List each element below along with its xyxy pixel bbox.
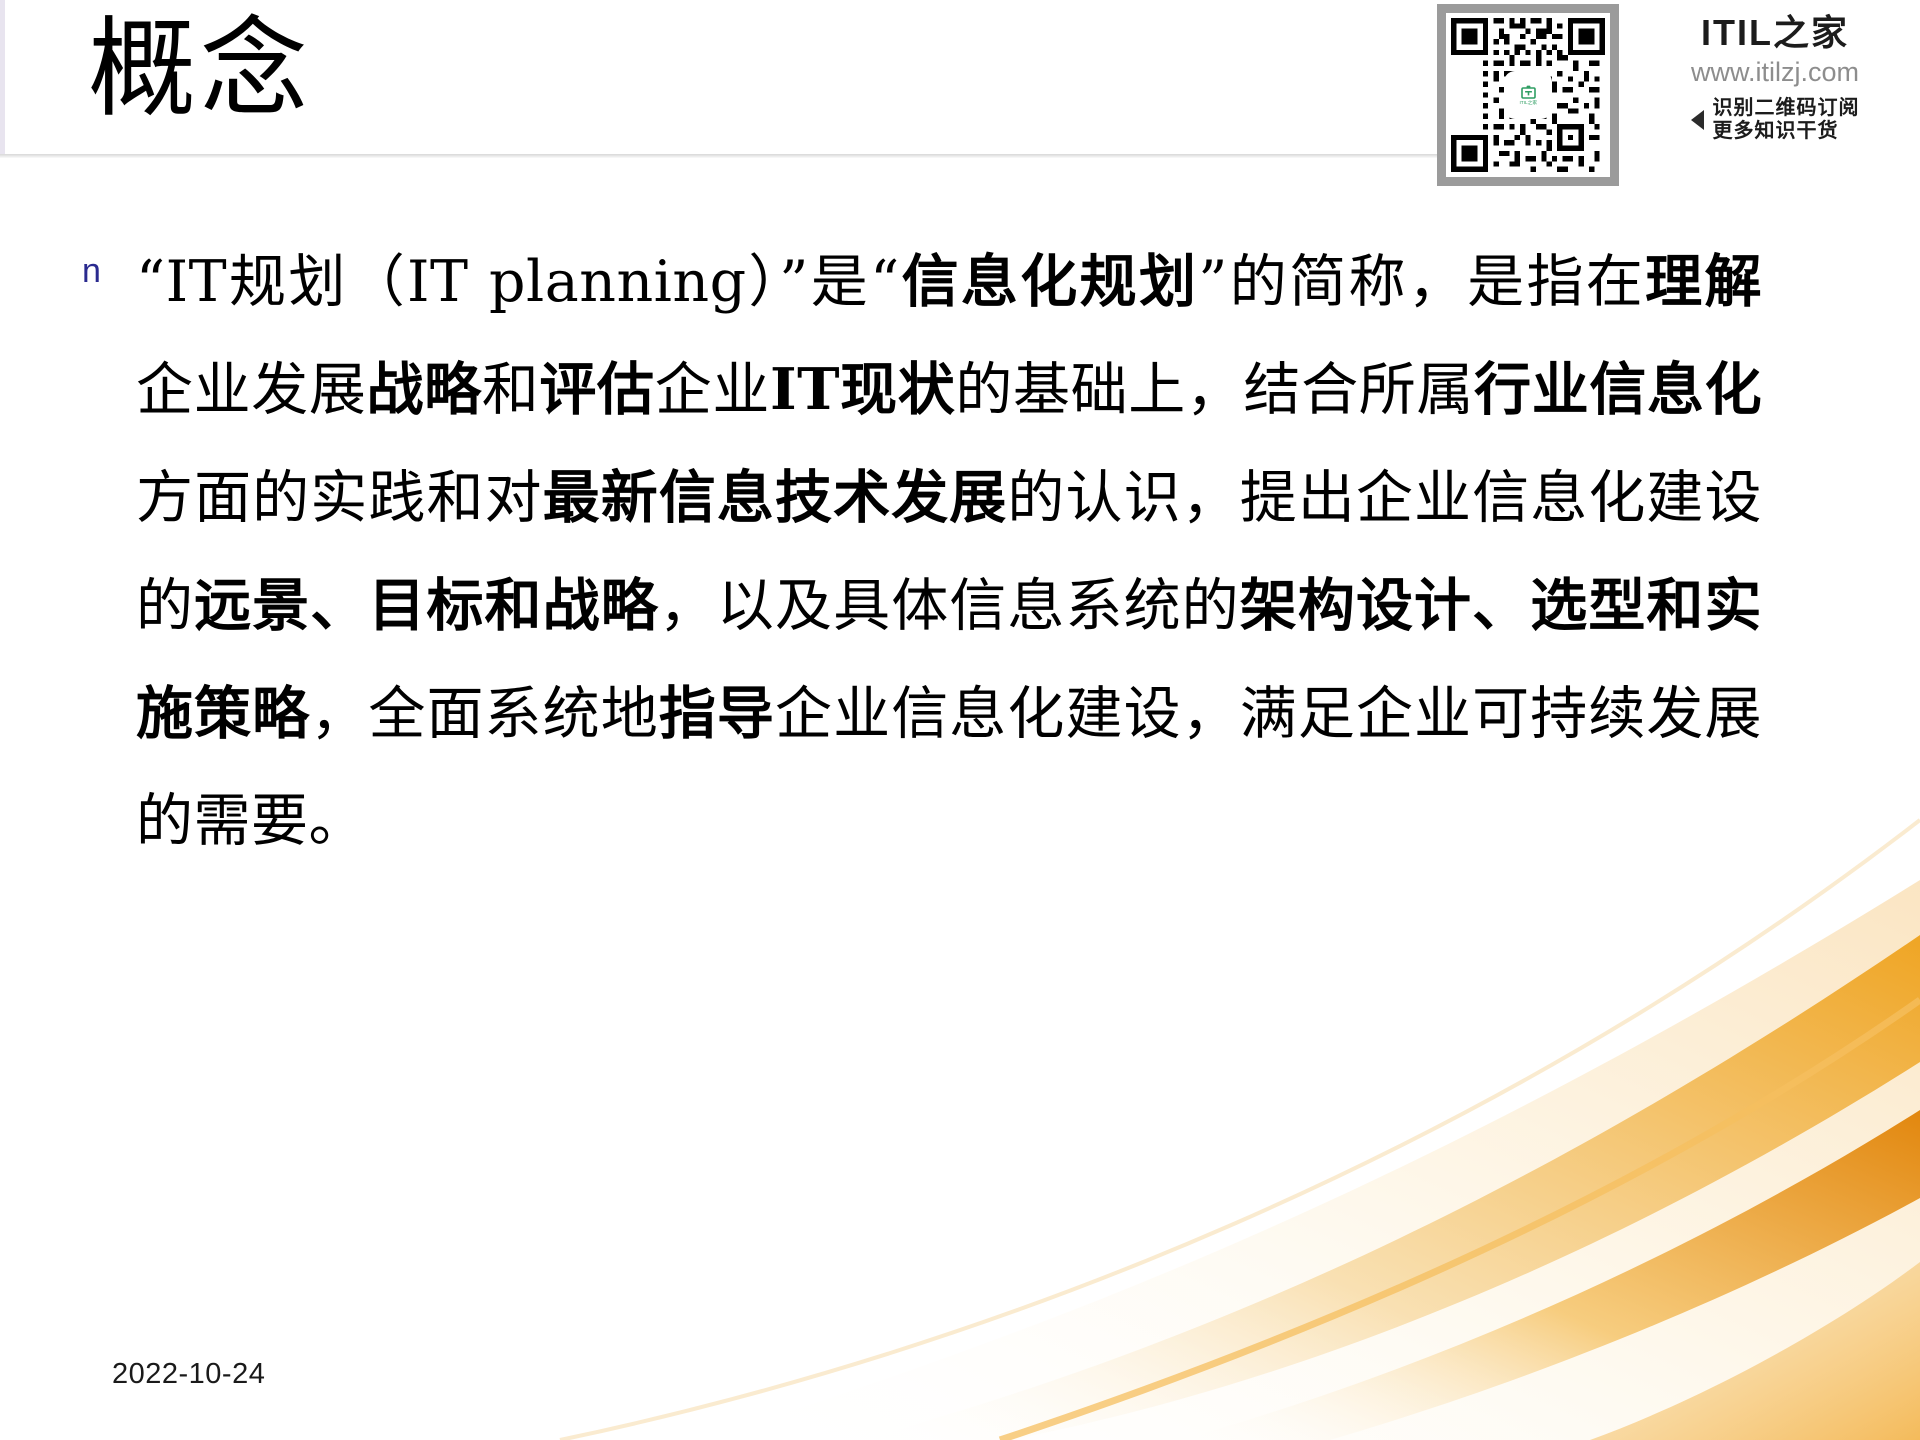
- brand-cta-line-2: 更多知识干货: [1713, 120, 1839, 142]
- body-block: n “IT规划（IT planning）”是“信息化规划”的简称，是指在理解企业…: [82, 228, 1762, 875]
- brand-name: ITIL之家: [1701, 14, 1849, 53]
- title-divider: [0, 154, 1442, 158]
- qr-code-frame[interactable]: ITIL之家: [1437, 4, 1619, 186]
- swoosh-faint-sweep: [560, 820, 1920, 1440]
- brand-cta-line-1: 识别二维码订阅: [1713, 97, 1860, 119]
- body-segment-10: 的基础上，结合所属: [955, 357, 1474, 423]
- title-block: 概念: [0, 0, 1450, 158]
- body-segment-9: IT现状: [770, 356, 955, 423]
- body-segment-1: 信息化规划: [900, 248, 1199, 315]
- swoosh-highlight: [1000, 1000, 1920, 1440]
- brand-cta-text: 识别二维码订阅 更多知识干货: [1713, 97, 1860, 144]
- body-segment-6: 和: [482, 357, 540, 423]
- qr-center-logo: ITIL之家: [1506, 73, 1550, 117]
- body-segment-2: ”的简称，是指在: [1198, 249, 1645, 315]
- left-triangle-icon: [1691, 110, 1704, 130]
- brand-text-group: ITIL之家 www.itilzj.com 识别二维码订阅 更多知识干货: [1635, 4, 1915, 144]
- brand-watermark[interactable]: ITIL之家 ITIL之家 www.itilzj.com 识别二维码订阅 更多知…: [1437, 4, 1915, 196]
- body-segment-18: ，全面系统地: [310, 681, 659, 747]
- brand-url[interactable]: www.itilzj.com: [1691, 56, 1859, 90]
- body-segment-3: 理解: [1645, 248, 1762, 315]
- brand-cta: 识别二维码订阅 更多知识干货: [1691, 97, 1860, 144]
- body-segment-19: 指导: [659, 680, 775, 747]
- body-paragraph: “IT规划（IT planning）”是“信息化规划”的简称，是指在理解企业发展…: [136, 228, 1762, 875]
- body-segment-16: ，以及具体信息系统的: [659, 573, 1240, 639]
- slide-canvas: 概念: [0, 0, 1920, 1440]
- footer-date: 2022-10-24: [112, 1358, 265, 1391]
- body-segment-7: 评估: [539, 356, 654, 423]
- body-segment-15: 远景、目标和战略: [194, 572, 659, 639]
- swoosh-pale: [700, 880, 1920, 1440]
- swoosh-primary: [860, 935, 1920, 1440]
- body-segment-13: 最新信息技术发展: [543, 464, 1008, 531]
- bullet-marker: n: [82, 228, 136, 288]
- body-segment-5: 战略: [367, 356, 482, 423]
- swoosh-wedge: [1590, 1262, 1920, 1440]
- swoosh-secondary: [1180, 1110, 1920, 1440]
- body-segment-0: “IT规划（IT planning）”是“: [136, 249, 900, 315]
- book-logo-icon: [1520, 85, 1537, 100]
- page-title: 概念: [88, 6, 312, 133]
- body-segment-11: 行业信息化: [1474, 356, 1762, 423]
- body-segment-4: 企业发展: [136, 357, 367, 423]
- body-segment-12: 方面的实践和对: [136, 465, 543, 531]
- qr-logo-caption: ITIL之家: [1519, 101, 1537, 106]
- body-segment-8: 企业: [655, 357, 770, 423]
